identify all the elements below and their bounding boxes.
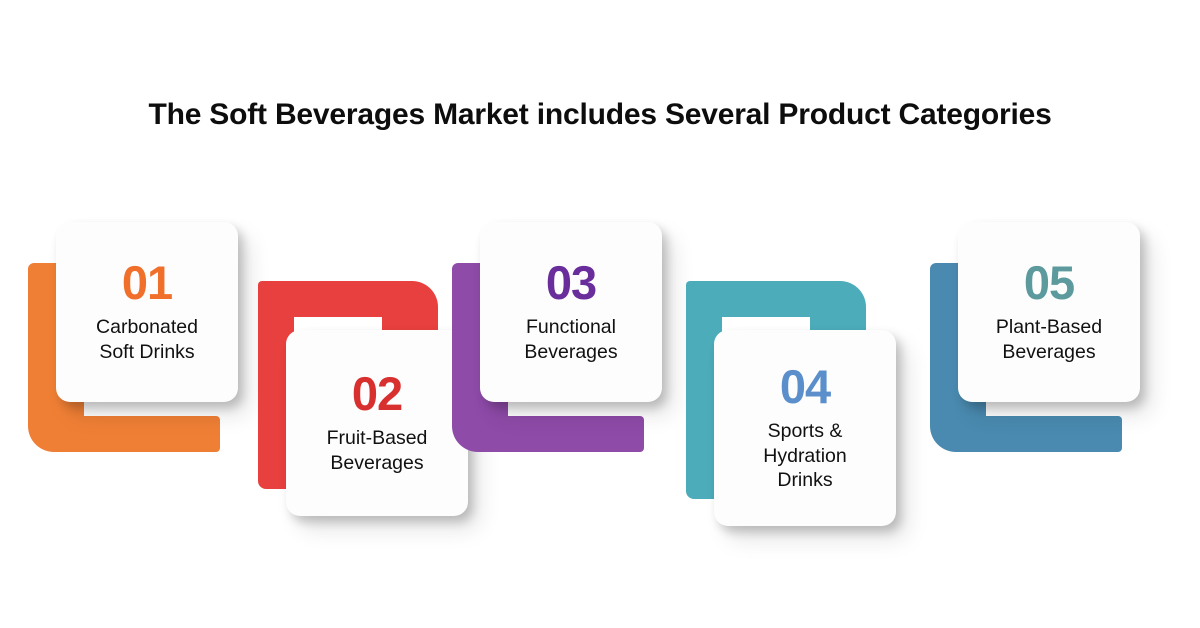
card-5-accent-elbow	[930, 396, 986, 452]
category-card-3[interactable]: 03 Functional Beverages	[452, 222, 702, 462]
infographic-canvas: The Soft Beverages Market includes Sever…	[0, 0, 1200, 628]
card-5-label: Plant-Based Beverages	[996, 315, 1102, 365]
card-1-accent-elbow	[28, 396, 84, 452]
card-4-label: Sports & Hydration Drinks	[763, 419, 846, 493]
card-3-number: 03	[546, 259, 596, 306]
page-title: The Soft Beverages Market includes Sever…	[0, 98, 1200, 132]
card-4-accent-horizontal-bar	[686, 281, 826, 317]
card-3-label: Functional Beverages	[524, 315, 617, 365]
card-2-accent-horizontal-bar	[258, 281, 398, 317]
card-4-accent-elbow	[810, 281, 866, 337]
card-3-accent-elbow	[452, 396, 508, 452]
card-3-accent-horizontal-bar	[508, 416, 644, 452]
card-1-panel[interactable]: 01 Carbonated Soft Drinks	[56, 222, 238, 402]
category-card-4[interactable]: 04 Sports & Hydration Drinks	[686, 281, 941, 531]
card-2-panel[interactable]: 02 Fruit-Based Beverages	[286, 330, 468, 516]
card-3-panel[interactable]: 03 Functional Beverages	[480, 222, 662, 402]
card-1-label: Carbonated Soft Drinks	[96, 315, 198, 365]
card-2-number: 02	[352, 370, 402, 417]
card-5-panel[interactable]: 05 Plant-Based Beverages	[958, 222, 1140, 402]
card-4-panel[interactable]: 04 Sports & Hydration Drinks	[714, 330, 896, 526]
card-5-number: 05	[1024, 259, 1074, 306]
card-4-number: 04	[780, 363, 830, 410]
card-1-number: 01	[122, 259, 172, 306]
card-1-accent-horizontal-bar	[84, 416, 220, 452]
card-2-accent-elbow	[382, 281, 438, 337]
category-card-1[interactable]: 01 Carbonated Soft Drinks	[28, 222, 278, 462]
card-5-accent-horizontal-bar	[986, 416, 1122, 452]
category-card-5[interactable]: 05 Plant-Based Beverages	[930, 222, 1180, 462]
card-2-label: Fruit-Based Beverages	[327, 426, 428, 476]
